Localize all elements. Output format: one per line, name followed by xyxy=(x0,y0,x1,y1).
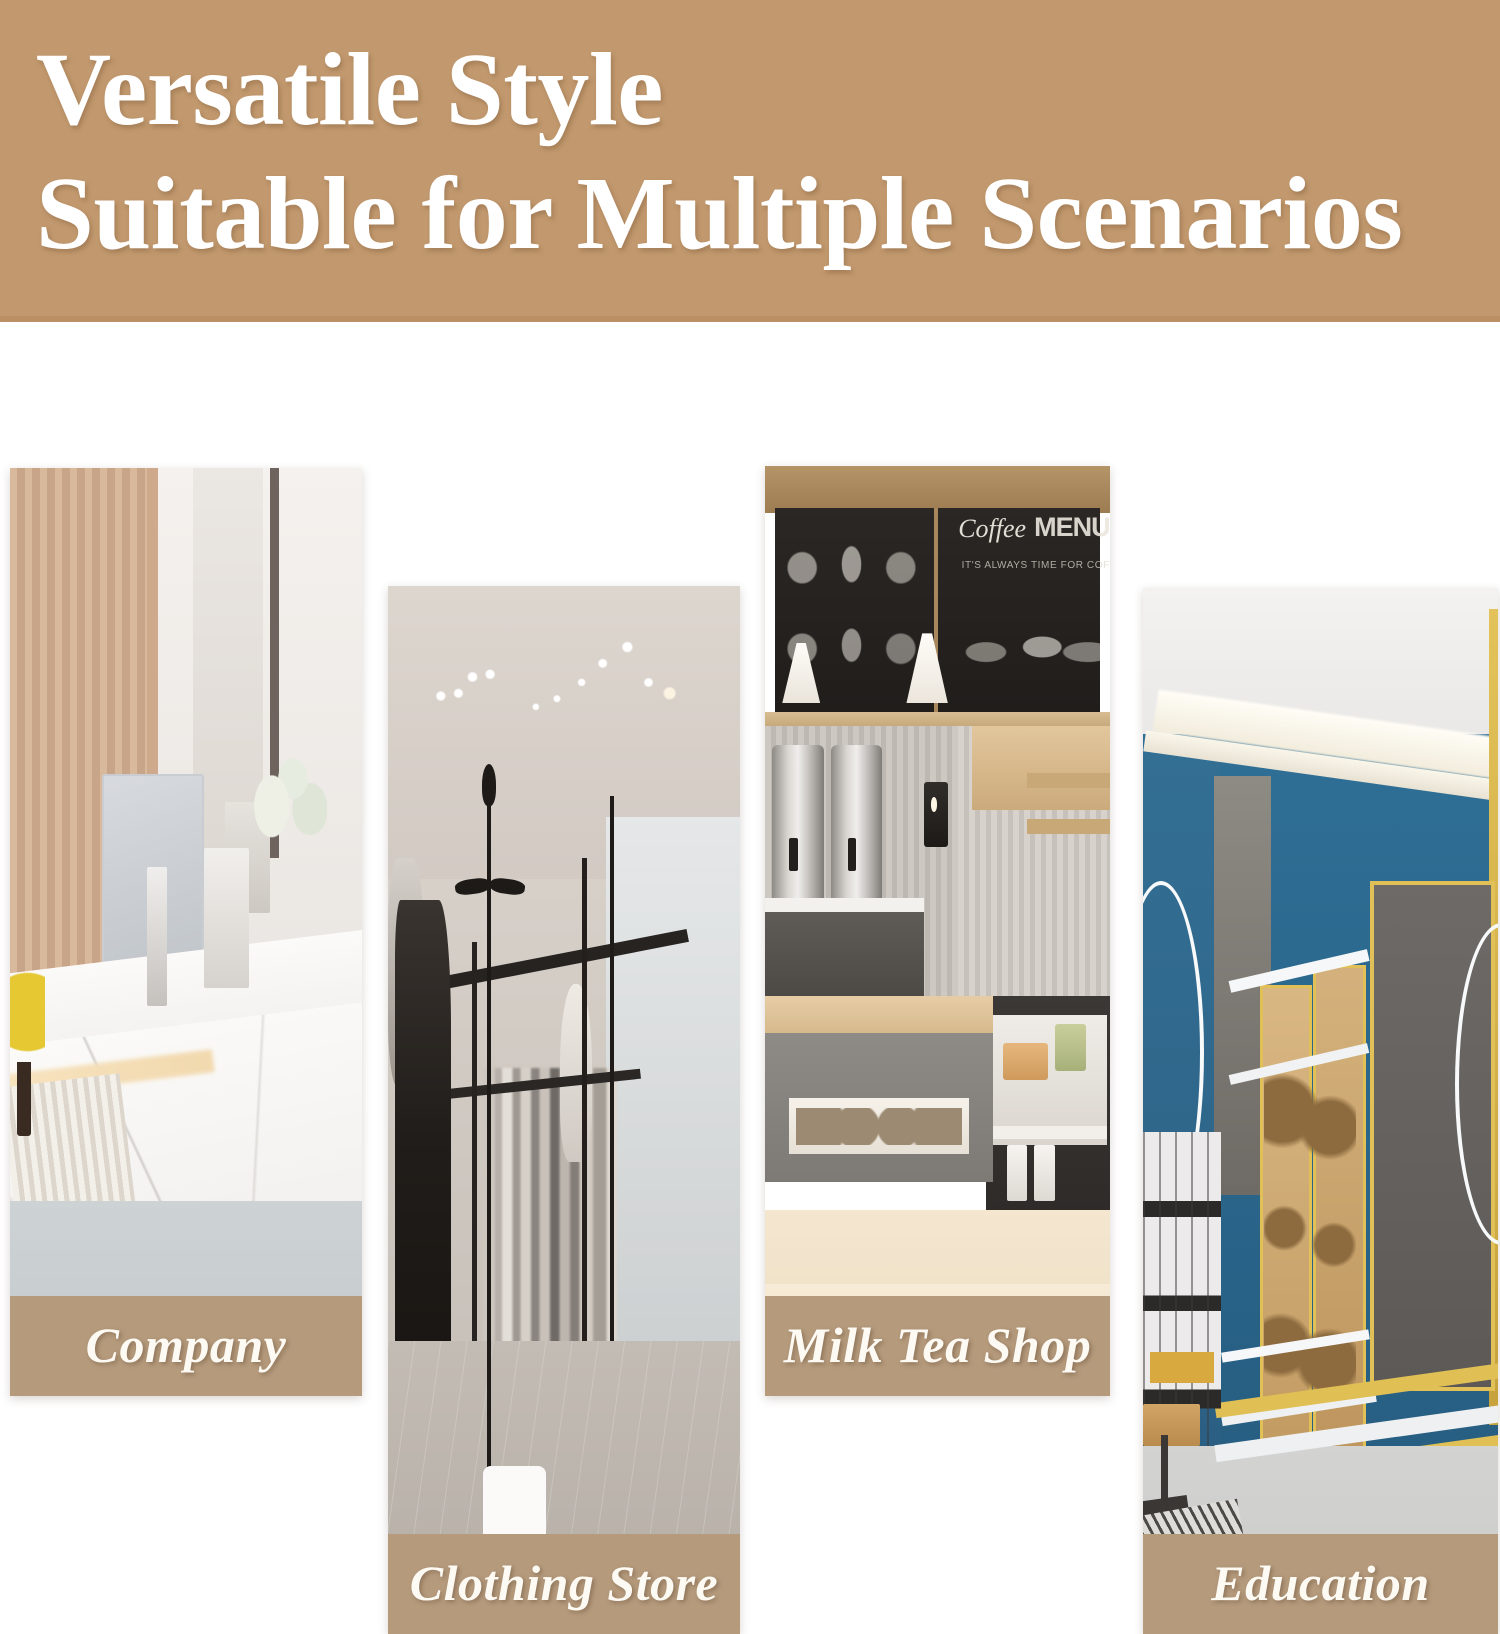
flower-arrangement xyxy=(242,709,326,848)
coat-rack-pole xyxy=(487,785,492,1581)
paper-cup-2 xyxy=(1034,1145,1055,1201)
paper-cup-1 xyxy=(1007,1145,1028,1201)
photo-clothing-store xyxy=(388,586,740,1634)
scenario-panel-company[interactable]: Company xyxy=(10,468,362,1396)
wall-dispenser xyxy=(924,782,948,847)
wood-table xyxy=(1143,1404,1200,1446)
wood-shelf-3 xyxy=(1027,819,1110,834)
display-shelving-items xyxy=(1143,1132,1221,1446)
photo-blue-corridor xyxy=(1143,588,1498,1634)
counter-sign-icons xyxy=(796,1108,962,1145)
page-title: Versatile Style Suitable for Multiple Sc… xyxy=(36,28,1486,276)
chalkboard-drink-icons-right xyxy=(948,596,1100,698)
rail-post-3 xyxy=(610,796,614,1425)
top-wood-trim xyxy=(765,466,1110,513)
chalkboard-subtitle-text: IT'S ALWAYS TIME FOR COFFEE xyxy=(962,561,1107,589)
scenario-panel-milk-tea-shop[interactable]: Coffee MENU IT'S ALWAYS TIME FOR COFFEE xyxy=(765,466,1110,1396)
header-banner: Versatile Style Suitable for Multiple Sc… xyxy=(0,0,1500,322)
scenario-panel-education[interactable]: Education xyxy=(1143,588,1498,1634)
dark-vase xyxy=(17,1062,31,1136)
wood-shelf-2 xyxy=(1027,773,1110,788)
sanitizer-dispenser xyxy=(147,867,166,1006)
dispenser-tap-1 xyxy=(789,838,798,871)
panel-caption-clothing-store: Clothing Store xyxy=(388,1534,740,1634)
ceiling-spotlights xyxy=(388,628,740,900)
dispenser-tap-2 xyxy=(848,838,857,871)
photo-coffee-bar: Coffee MENU IT'S ALWAYS TIME FOR COFFEE xyxy=(765,466,1110,1396)
shelving-base xyxy=(1150,1352,1214,1383)
chalkboard-menu-text: MENU xyxy=(1034,514,1110,561)
metal-counter-bar xyxy=(765,898,924,913)
green-jar xyxy=(1055,1024,1086,1071)
wood-shelf-1 xyxy=(972,726,1110,810)
beverage-dispenser-1 xyxy=(772,745,824,903)
under-counter-shelf xyxy=(765,912,924,996)
display-case-shelf xyxy=(993,1126,1107,1139)
scenario-panel-grid: Company Clothing Store xyxy=(0,322,1500,1500)
pastry-item xyxy=(1003,1043,1048,1080)
panel-caption-milk-tea-shop: Milk Tea Shop xyxy=(765,1296,1110,1396)
counter-box xyxy=(204,848,250,987)
rail-post-2 xyxy=(582,858,587,1424)
beverage-dispenser-2 xyxy=(831,745,883,903)
photo-office-reception xyxy=(10,468,362,1396)
door-decor-dots xyxy=(1264,1027,1356,1445)
panel-caption-education: Education xyxy=(1143,1534,1498,1634)
panel-caption-company: Company xyxy=(10,1296,362,1396)
scenario-panel-clothing-store[interactable]: Clothing Store xyxy=(388,586,740,1634)
